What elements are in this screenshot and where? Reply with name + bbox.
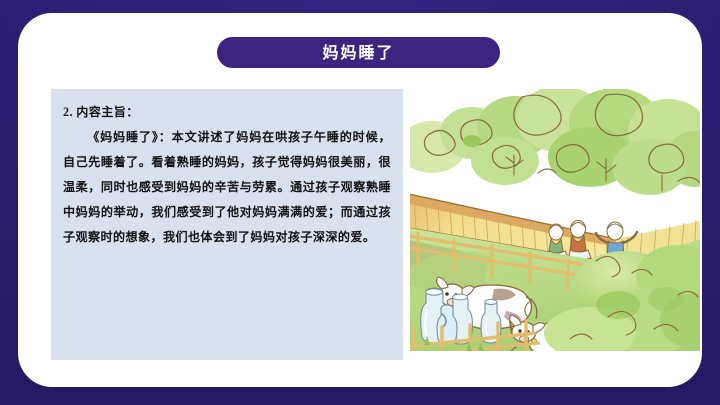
- farmyard-illustration: [410, 89, 700, 351]
- tree-canopy-group: [410, 89, 700, 195]
- content-card: 妈妈睡了 2. 内容主旨： 《妈妈睡了》：本文讲述了妈妈在哄孩子午睡的时候，自己…: [18, 13, 702, 387]
- farmyard-illustration-svg: [410, 89, 700, 351]
- slide-title-pill: 妈妈睡了: [217, 37, 500, 68]
- content-heading: 2. 内容主旨：: [63, 100, 391, 125]
- content-text-panel: 2. 内容主旨： 《妈妈睡了》：本文讲述了妈妈在哄孩子午睡的时候，自己先睡着了。…: [51, 89, 403, 360]
- content-paragraph: 《妈妈睡了》：本文讲述了妈妈在哄孩子午睡的时候，自己先睡着了。看着熟睡的妈妈，孩…: [63, 125, 391, 250]
- content-body: 2. 内容主旨： 《妈妈睡了》：本文讲述了妈妈在哄孩子午睡的时候，自己先睡着了。…: [63, 100, 391, 249]
- page-title: 妈妈睡了: [322, 45, 394, 61]
